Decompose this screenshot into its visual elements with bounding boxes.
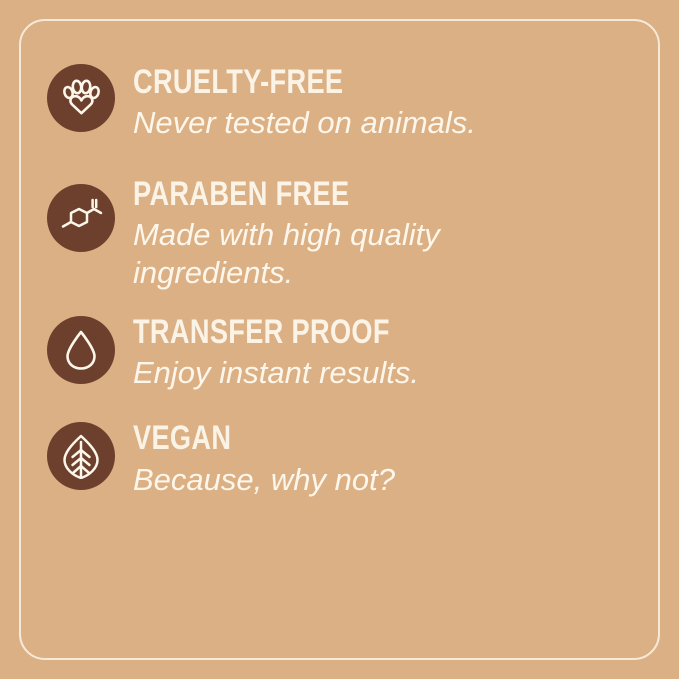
feature-subtitle: Never tested on animals. xyxy=(133,104,513,142)
feature-text-vegan: VEGAN Because, why not? xyxy=(133,420,649,498)
feature-item-cruelty-free: CRUELTY-FREE Never tested on animals. xyxy=(47,64,649,142)
feature-subtitle: Made with high quality ingredients. xyxy=(133,216,513,292)
feature-title: VEGAN xyxy=(133,422,546,455)
feature-title: CRUELTY-FREE xyxy=(133,66,546,99)
feature-item-transfer-proof: TRANSFER PROOF Enjoy instant results. xyxy=(47,314,649,392)
feature-list: CRUELTY-FREE Never tested on animals. xyxy=(0,0,679,679)
feature-subtitle: Because, why not? xyxy=(133,461,513,499)
product-benefits-panel: CRUELTY-FREE Never tested on animals. xyxy=(0,0,679,679)
paw-print-icon xyxy=(47,64,115,132)
chemical-molecule-icon xyxy=(47,184,115,252)
water-droplet-icon xyxy=(47,316,115,384)
feature-text-transfer-proof: TRANSFER PROOF Enjoy instant results. xyxy=(133,314,649,392)
feature-title: PARABEN FREE xyxy=(133,178,546,211)
feature-text-cruelty-free: CRUELTY-FREE Never tested on animals. xyxy=(133,64,649,142)
feature-title: TRANSFER PROOF xyxy=(133,316,546,349)
feature-item-vegan: VEGAN Because, why not? xyxy=(47,420,649,498)
feature-subtitle: Enjoy instant results. xyxy=(133,354,513,392)
feature-text-paraben-free: PARABEN FREE Made with high quality ingr… xyxy=(133,176,649,292)
feature-item-paraben-free: PARABEN FREE Made with high quality ingr… xyxy=(47,176,649,292)
leaf-icon xyxy=(47,422,115,490)
